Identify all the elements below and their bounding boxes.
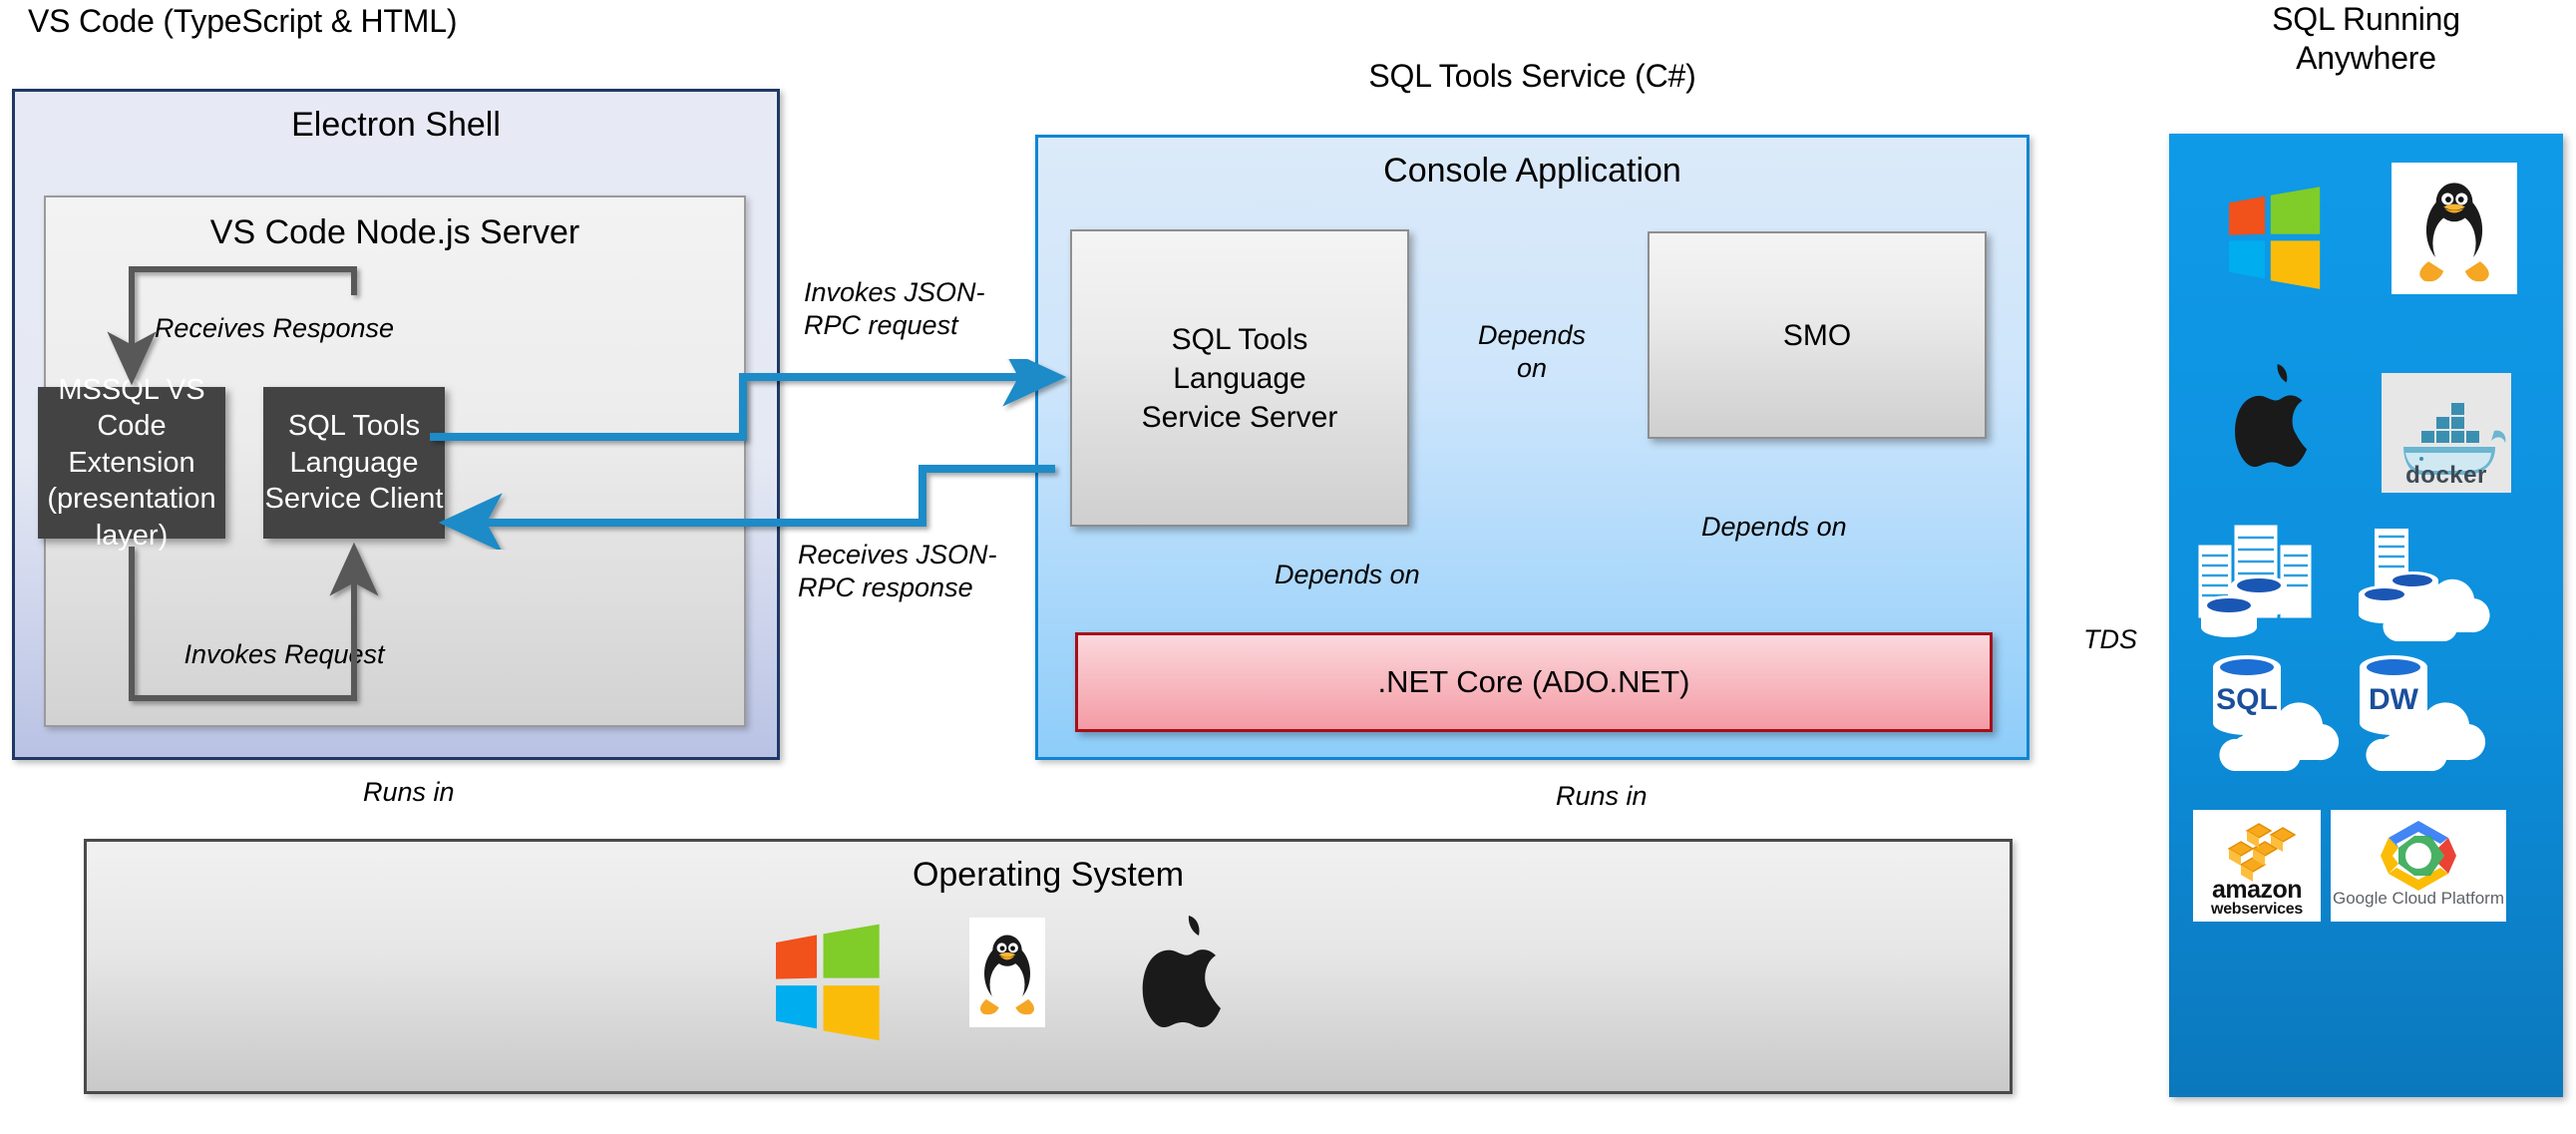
mssql-vscode-extension-node[interactable]: MSSQL VS Code Extension (presentation la… <box>38 387 225 539</box>
vscode-nodejs-server-title: VS Code Node.js Server <box>46 213 744 252</box>
edge-label-receives-jsonrpc-response: Receives JSON- RPC response <box>798 539 1037 604</box>
edge-label-invokes-request: Invokes Request <box>160 638 409 671</box>
sql-running-anywhere-panel <box>2169 134 2563 1097</box>
smo-node[interactable]: SMO <box>1648 231 1987 439</box>
caption-sql-running-anywhere: SQL Running Anywhere <box>2169 0 2563 78</box>
edge-label-depends-on-dotnet-from-smo: Depends on <box>1701 511 1931 544</box>
edge-label-invokes-jsonrpc-request: Invokes JSON- RPC request <box>804 276 1043 342</box>
caption-vscode: VS Code (TypeScript & HTML) <box>28 2 566 41</box>
edge-label-receives-response: Receives Response <box>150 312 399 345</box>
operating-system-container: Operating System <box>84 839 2013 1094</box>
operating-system-title: Operating System <box>87 856 2010 895</box>
edge-label-depends-on-dotnet-from-server: Depends on <box>1275 559 1504 591</box>
console-application-title: Console Application <box>1038 152 2026 190</box>
edge-label-runs-in-left: Runs in <box>363 776 562 809</box>
edge-label-tds: TDS <box>2060 623 2160 656</box>
sql-tools-language-service-client-node[interactable]: SQL Tools Language Service Client <box>263 387 445 539</box>
edge-label-runs-in-right: Runs in <box>1556 780 1755 813</box>
sql-tools-language-service-server-node[interactable]: SQL Tools Language Service Server <box>1070 229 1409 527</box>
edge-label-depends-on-smo: Depends on <box>1442 319 1622 385</box>
dotnet-core-adonet-node[interactable]: .NET Core (ADO.NET) <box>1075 632 1993 732</box>
diagram-canvas: VS Code (TypeScript & HTML) SQL Tools Se… <box>0 0 2576 1134</box>
caption-sql-tools-service: SQL Tools Service (C#) <box>1035 57 2029 96</box>
electron-shell-title: Electron Shell <box>15 106 777 145</box>
